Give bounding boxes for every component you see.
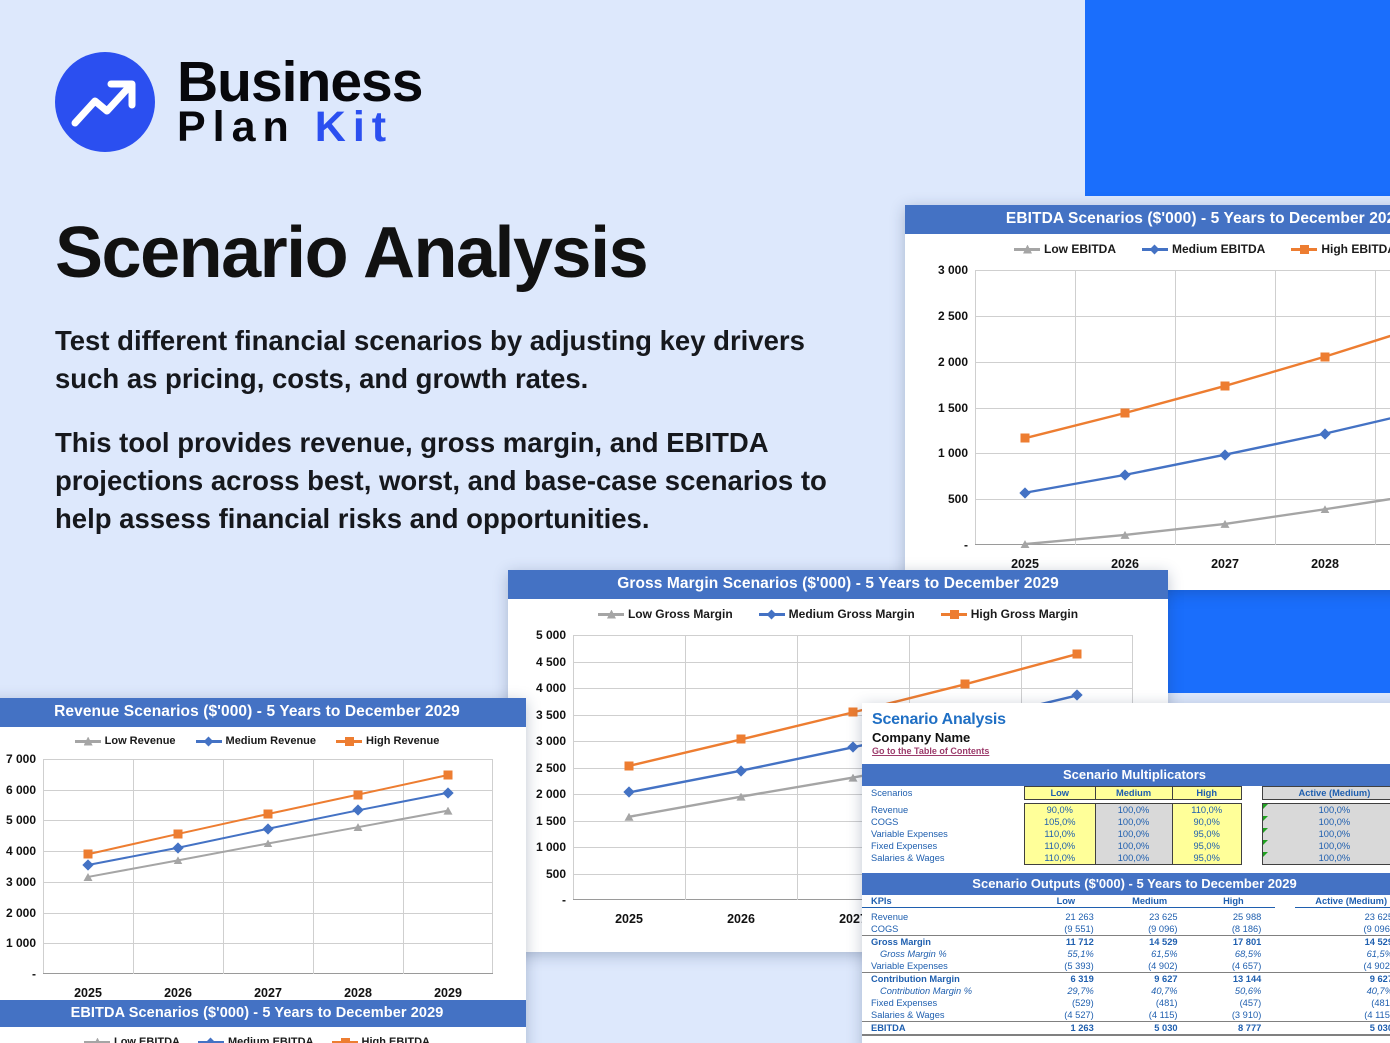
legend-label: High EBITDA <box>362 1036 430 1043</box>
y-axis-tick: 4 500 <box>536 655 566 669</box>
cell-low: (5 393) <box>1024 960 1108 973</box>
cell-low: 29,7% <box>1024 985 1108 997</box>
scenario-multiplicators-table: Scenarios Low Medium High Active (Medium… <box>862 786 1390 865</box>
cell-low[interactable]: 110,0% <box>1025 840 1096 852</box>
legend-label: Low Revenue <box>105 735 176 747</box>
y-axis-tick: 500 <box>948 492 968 506</box>
cell-high: (8 186) <box>1192 923 1276 936</box>
data-point <box>264 809 273 818</box>
cell-high[interactable]: 95,0% <box>1172 828 1241 840</box>
row-label: Variable Expenses <box>862 960 1024 973</box>
chart-plot-area-ebitda-top: -5001 0001 5002 0002 5003 00020252026202… <box>975 270 1390 545</box>
hero-paragraph-1: Test different financial scenarios by ad… <box>55 322 845 398</box>
row-label-variable-expenses: Variable Expenses <box>862 828 1025 840</box>
cell-low: (4 527) <box>1024 1009 1108 1022</box>
slide-canvas: Business Plan Kit Scenario Analysis Test… <box>0 0 1390 1043</box>
legend-label: Low EBITDA <box>1044 242 1116 256</box>
legend-item-high-gross-margin: High Gross Margin <box>941 607 1078 621</box>
column-header-high: High <box>1172 787 1241 800</box>
table-of-contents-link[interactable]: Go to the Table of Contents <box>872 746 1390 756</box>
cell-high: (4 657) <box>1192 960 1276 973</box>
table-row: COGS 105,0% 100,0% 90,0% 100,0% <box>862 816 1390 828</box>
cell-active: (9 096) <box>1295 923 1390 936</box>
y-axis-tick: - <box>32 967 36 981</box>
decorative-blue-block-middle <box>1165 573 1390 693</box>
column-header-low: Low <box>1024 895 1108 908</box>
cell-high: 25 988 <box>1192 911 1276 923</box>
cell-active: 61,5% <box>1295 948 1390 960</box>
column-header-medium: Medium <box>1095 787 1172 800</box>
table-row: Contribution Margin %29,7%40,7%50,6%40,7… <box>862 985 1390 997</box>
row-label-cogs: COGS <box>862 816 1025 828</box>
page-title: Scenario Analysis <box>55 212 647 294</box>
y-axis-tick: 2 000 <box>938 355 968 369</box>
x-axis-tick: 2027 <box>254 986 282 1000</box>
y-axis-tick: 2 000 <box>6 906 36 920</box>
row-label: EBITDA <box>862 1021 1024 1035</box>
y-axis-tick: 1 000 <box>536 840 566 854</box>
data-point <box>354 790 363 799</box>
spacer <box>1275 911 1295 923</box>
legend-label: Low EBITDA <box>114 1036 180 1043</box>
cell-low: 21 263 <box>1024 911 1108 923</box>
legend-label: High EBITDA <box>1321 242 1390 256</box>
y-axis-tick: 1 000 <box>6 936 36 950</box>
data-point <box>1321 352 1330 361</box>
cell-high: 50,6% <box>1192 985 1276 997</box>
cell-high[interactable]: 90,0% <box>1172 816 1241 828</box>
chart-legend-gross-margin: Low Gross Margin Medium Gross Margin Hig… <box>508 599 1168 625</box>
spacer <box>1275 935 1295 948</box>
cell-high: 13 144 <box>1192 972 1276 985</box>
cell-active: (4 902) <box>1295 960 1390 973</box>
multipliers-row-label: Scenarios <box>862 787 1025 800</box>
cell-active: 100,0% <box>1262 828 1390 840</box>
cell-active: (4 115) <box>1295 1009 1390 1022</box>
y-axis-tick: 7 000 <box>6 752 36 766</box>
row-label: Contribution Margin <box>862 972 1024 985</box>
cell-medium[interactable]: 100,0% <box>1095 804 1172 817</box>
cell-medium: 40,7% <box>1108 985 1192 997</box>
scenario-multiplicators-band: Scenario Multiplicators <box>862 764 1390 786</box>
brand-line-2: Plan Kit <box>177 108 422 148</box>
data-point <box>625 761 634 770</box>
data-point <box>1073 650 1082 659</box>
legend-label: Medium EBITDA <box>228 1036 314 1043</box>
table-header-row: KPIs Low Medium High Active (Medium) <box>862 895 1390 908</box>
legend-item-high-ebitda-bottom: High EBITDA <box>332 1036 430 1043</box>
cell-medium: (9 096) <box>1108 923 1192 936</box>
cell-high: 8 777 <box>1192 1021 1276 1035</box>
table-row: COGS(9 551)(9 096)(8 186)(9 096) <box>862 923 1390 936</box>
legend-label: Medium Revenue <box>226 735 316 747</box>
y-axis-tick: 1 500 <box>938 401 968 415</box>
y-axis-tick: 5 000 <box>536 628 566 642</box>
chart-title-gross-margin: Gross Margin Scenarios ($'000) - 5 Years… <box>508 570 1168 599</box>
cell-low: (9 551) <box>1024 923 1108 936</box>
scenario-outputs-table: KPIs Low Medium High Active (Medium) Rev… <box>862 895 1390 1036</box>
y-axis-tick: - <box>562 893 566 907</box>
cell-active: 9 627 <box>1295 972 1390 985</box>
table-row: Variable Expenses 110,0% 100,0% 95,0% 10… <box>862 828 1390 840</box>
chart-title-revenue: Revenue Scenarios ($'000) - 5 Years to D… <box>0 698 526 727</box>
row-label: Contribution Margin % <box>862 985 1024 997</box>
outputs-rows: Revenue21 26323 62525 98823 625COGS(9 55… <box>862 911 1390 1035</box>
table-row: Variable Expenses(5 393)(4 902)(4 657)(4… <box>862 960 1390 973</box>
legend-item-low-gross-margin: Low Gross Margin <box>598 607 733 621</box>
cell-low: 6 319 <box>1024 972 1108 985</box>
table-row: Revenue21 26323 62525 98823 625 <box>862 911 1390 923</box>
table-row: Salaries & Wages 110,0% 100,0% 95,0% 100… <box>862 852 1390 865</box>
y-axis-tick: 6 000 <box>6 783 36 797</box>
table-row: Gross Margin %55,1%61,5%68,5%61,5% <box>862 948 1390 960</box>
chart-title-ebitda-bottom: EBITDA Scenarios ($'000) - 5 Years to De… <box>0 1000 526 1027</box>
x-axis-tick: 2028 <box>1311 557 1339 571</box>
cell-medium: 9 627 <box>1108 972 1192 985</box>
legend-item-medium-revenue: Medium Revenue <box>196 735 316 747</box>
x-axis-tick: 2025 <box>74 986 102 1000</box>
legend-label: High Revenue <box>366 735 439 747</box>
series-lines <box>43 759 493 974</box>
cell-high: (3 910) <box>1192 1009 1276 1022</box>
table-row: Salaries & Wages(4 527)(4 115)(3 910)(4 … <box>862 1009 1390 1022</box>
table-row: Contribution Margin6 3199 62713 1449 627 <box>862 972 1390 985</box>
y-axis-tick: 4 000 <box>6 844 36 858</box>
cell-active: 100,0% <box>1262 804 1390 817</box>
column-header-active: Active (Medium) <box>1295 895 1390 908</box>
data-point <box>961 680 970 689</box>
scenario-outputs-band: Scenario Outputs ($'000) - 5 Years to De… <box>862 873 1390 895</box>
growth-arrow-icon <box>55 52 155 152</box>
cell-active: 14 529 <box>1295 935 1390 948</box>
x-axis-tick: 2025 <box>1011 557 1039 571</box>
spacer <box>1275 1009 1295 1022</box>
cell-medium: (4 115) <box>1108 1009 1192 1022</box>
chart-panel-revenue: Revenue Scenarios ($'000) - 5 Years to D… <box>0 698 526 1043</box>
cell-low: (529) <box>1024 997 1108 1009</box>
legend-item-high-revenue: High Revenue <box>336 735 439 747</box>
column-header-active: Active (Medium) <box>1262 787 1390 800</box>
y-axis-tick: 1 500 <box>536 814 566 828</box>
cell-high: 68,5% <box>1192 948 1276 960</box>
chart-legend-ebitda-top: Low EBITDA Medium EBITDA High EBITDA <box>905 234 1390 260</box>
legend-item-medium-ebitda: Medium EBITDA <box>1142 242 1265 256</box>
cell-low: 55,1% <box>1024 948 1108 960</box>
legend-item-high-ebitda: High EBITDA <box>1291 242 1390 256</box>
chart-legend-revenue: Low Revenue Medium Revenue High Revenue <box>0 727 526 751</box>
spacer <box>1275 997 1295 1009</box>
x-axis-tick: 2028 <box>344 986 372 1000</box>
legend-item-medium-ebitda-bottom: Medium EBITDA <box>198 1036 314 1043</box>
cell-active: (481) <box>1295 997 1390 1009</box>
cell-medium[interactable]: 100,0% <box>1095 840 1172 852</box>
brand-kit-text: Kit <box>315 103 393 151</box>
cell-active: 5 030 <box>1295 1021 1390 1035</box>
cell-medium: 61,5% <box>1108 948 1192 960</box>
legend-item-low-ebitda-bottom: Low EBITDA <box>84 1036 180 1043</box>
cell-medium[interactable]: 100,0% <box>1095 828 1172 840</box>
column-header-high: High <box>1192 895 1276 908</box>
cell-high[interactable]: 95,0% <box>1172 852 1241 865</box>
cell-active: 100,0% <box>1262 840 1390 852</box>
cell-active: 23 625 <box>1295 911 1390 923</box>
cell-low[interactable]: 90,0% <box>1025 804 1096 817</box>
data-point <box>1121 409 1130 418</box>
brand-line-1: Business <box>177 56 422 108</box>
row-label: Revenue <box>862 911 1024 923</box>
row-label-revenue: Revenue <box>862 804 1025 817</box>
y-axis-tick: 2 500 <box>536 761 566 775</box>
cell-medium: 14 529 <box>1108 935 1192 948</box>
legend-label: High Gross Margin <box>971 607 1078 621</box>
brand-logo: Business Plan Kit <box>55 52 422 152</box>
cell-medium: 5 030 <box>1108 1021 1192 1035</box>
data-point <box>1221 381 1230 390</box>
decorative-blue-block-top <box>1085 0 1390 196</box>
hero-paragraph-2: This tool provides revenue, gross margin… <box>55 424 845 538</box>
spreadsheet-panel: Scenario Analysis Company Name Go to the… <box>862 703 1390 1043</box>
x-axis-tick: 2026 <box>1111 557 1139 571</box>
y-axis-tick: - <box>964 538 968 552</box>
row-label-fixed-expenses: Fixed Expenses <box>862 840 1025 852</box>
y-axis-tick: 3 500 <box>536 708 566 722</box>
table-row: Fixed Expenses(529)(481)(457)(481) <box>862 997 1390 1009</box>
cell-medium[interactable]: 100,0% <box>1095 852 1172 865</box>
row-label: Gross Margin <box>862 935 1024 948</box>
row-label: Gross Margin % <box>862 948 1024 960</box>
column-header-low: Low <box>1025 787 1096 800</box>
table-row: EBITDA1 2635 0308 7775 030 <box>862 1021 1390 1035</box>
spacer <box>1275 960 1295 973</box>
row-label-salaries-wages: Salaries & Wages <box>862 852 1025 865</box>
column-header-medium: Medium <box>1108 895 1192 908</box>
series-lines <box>975 270 1390 545</box>
table-header-row: Scenarios Low Medium High Active (Medium… <box>862 787 1390 800</box>
cell-low: 1 263 <box>1024 1021 1108 1035</box>
sheet-company-name: Company Name <box>872 730 1390 745</box>
spacer <box>1275 923 1295 936</box>
x-axis-tick: 2029 <box>434 986 462 1000</box>
sheet-heading: Scenario Analysis <box>872 711 1390 729</box>
cell-active: 100,0% <box>1262 852 1390 865</box>
chart-legend-ebitda-bottom: Low EBITDA Medium EBITDA High EBITDA <box>0 1028 526 1043</box>
y-axis-tick: 1 000 <box>938 446 968 460</box>
row-label: Salaries & Wages <box>862 1009 1024 1022</box>
legend-label: Medium EBITDA <box>1172 242 1265 256</box>
y-axis-tick: 500 <box>546 867 566 881</box>
data-point <box>1021 434 1030 443</box>
table-row: Gross Margin11 71214 52917 80114 529 <box>862 935 1390 948</box>
cell-low: 11 712 <box>1024 935 1108 948</box>
cell-active: 40,7% <box>1295 985 1390 997</box>
x-axis-tick: 2026 <box>164 986 192 1000</box>
table-row: Fixed Expenses 110,0% 100,0% 95,0% 100,0… <box>862 840 1390 852</box>
cell-low[interactable]: 105,0% <box>1025 816 1096 828</box>
legend-label: Low Gross Margin <box>628 607 733 621</box>
cell-medium: (4 902) <box>1108 960 1192 973</box>
spacer <box>1275 1021 1295 1035</box>
cell-low[interactable]: 110,0% <box>1025 852 1096 865</box>
x-axis-tick: 2026 <box>727 912 755 926</box>
cell-high[interactable]: 110,0% <box>1172 804 1241 817</box>
spacer <box>1275 985 1295 997</box>
cell-medium: 23 625 <box>1108 911 1192 923</box>
y-axis-tick: 4 000 <box>536 681 566 695</box>
legend-label: Medium Gross Margin <box>789 607 915 621</box>
cell-medium: (481) <box>1108 997 1192 1009</box>
y-axis-tick: 2 500 <box>938 309 968 323</box>
data-point <box>849 708 858 717</box>
cell-high: 17 801 <box>1192 935 1276 948</box>
cell-active: 100,0% <box>1262 816 1390 828</box>
row-label: COGS <box>862 923 1024 936</box>
cell-low[interactable]: 110,0% <box>1025 828 1096 840</box>
chart-panel-ebitda-top: EBITDA Scenarios ($'000) - 5 Years to De… <box>905 205 1390 590</box>
row-label: Fixed Expenses <box>862 997 1024 1009</box>
spacer <box>1275 972 1295 985</box>
y-axis-tick: 5 000 <box>6 813 36 827</box>
x-axis-tick: 2027 <box>1211 557 1239 571</box>
spacer <box>1275 948 1295 960</box>
table-row: Revenue 90,0% 100,0% 110,0% 100,0% <box>862 804 1390 817</box>
cell-medium[interactable]: 100,0% <box>1095 816 1172 828</box>
column-header-kpis: KPIs <box>862 895 1024 908</box>
y-axis-tick: 3 000 <box>938 263 968 277</box>
x-axis-tick: 2025 <box>615 912 643 926</box>
y-axis-tick: 3 000 <box>6 875 36 889</box>
hero-body-copy: Test different financial scenarios by ad… <box>55 322 845 564</box>
data-point <box>737 735 746 744</box>
y-axis-tick: 2 000 <box>536 787 566 801</box>
data-point <box>84 850 93 859</box>
y-axis-tick: 3 000 <box>536 734 566 748</box>
cell-high: (457) <box>1192 997 1276 1009</box>
legend-item-low-ebitda: Low EBITDA <box>1014 242 1116 256</box>
brand-plan-text: Plan <box>177 103 315 151</box>
data-point <box>444 770 453 779</box>
cell-high[interactable]: 95,0% <box>1172 840 1241 852</box>
legend-item-low-revenue: Low Revenue <box>75 735 176 747</box>
legend-item-medium-gross-margin: Medium Gross Margin <box>759 607 915 621</box>
chart-plot-area-revenue: -1 0002 0003 0004 0005 0006 0007 0002025… <box>43 759 493 974</box>
data-point <box>174 829 183 838</box>
chart-title-ebitda-top: EBITDA Scenarios ($'000) - 5 Years to De… <box>905 205 1390 234</box>
